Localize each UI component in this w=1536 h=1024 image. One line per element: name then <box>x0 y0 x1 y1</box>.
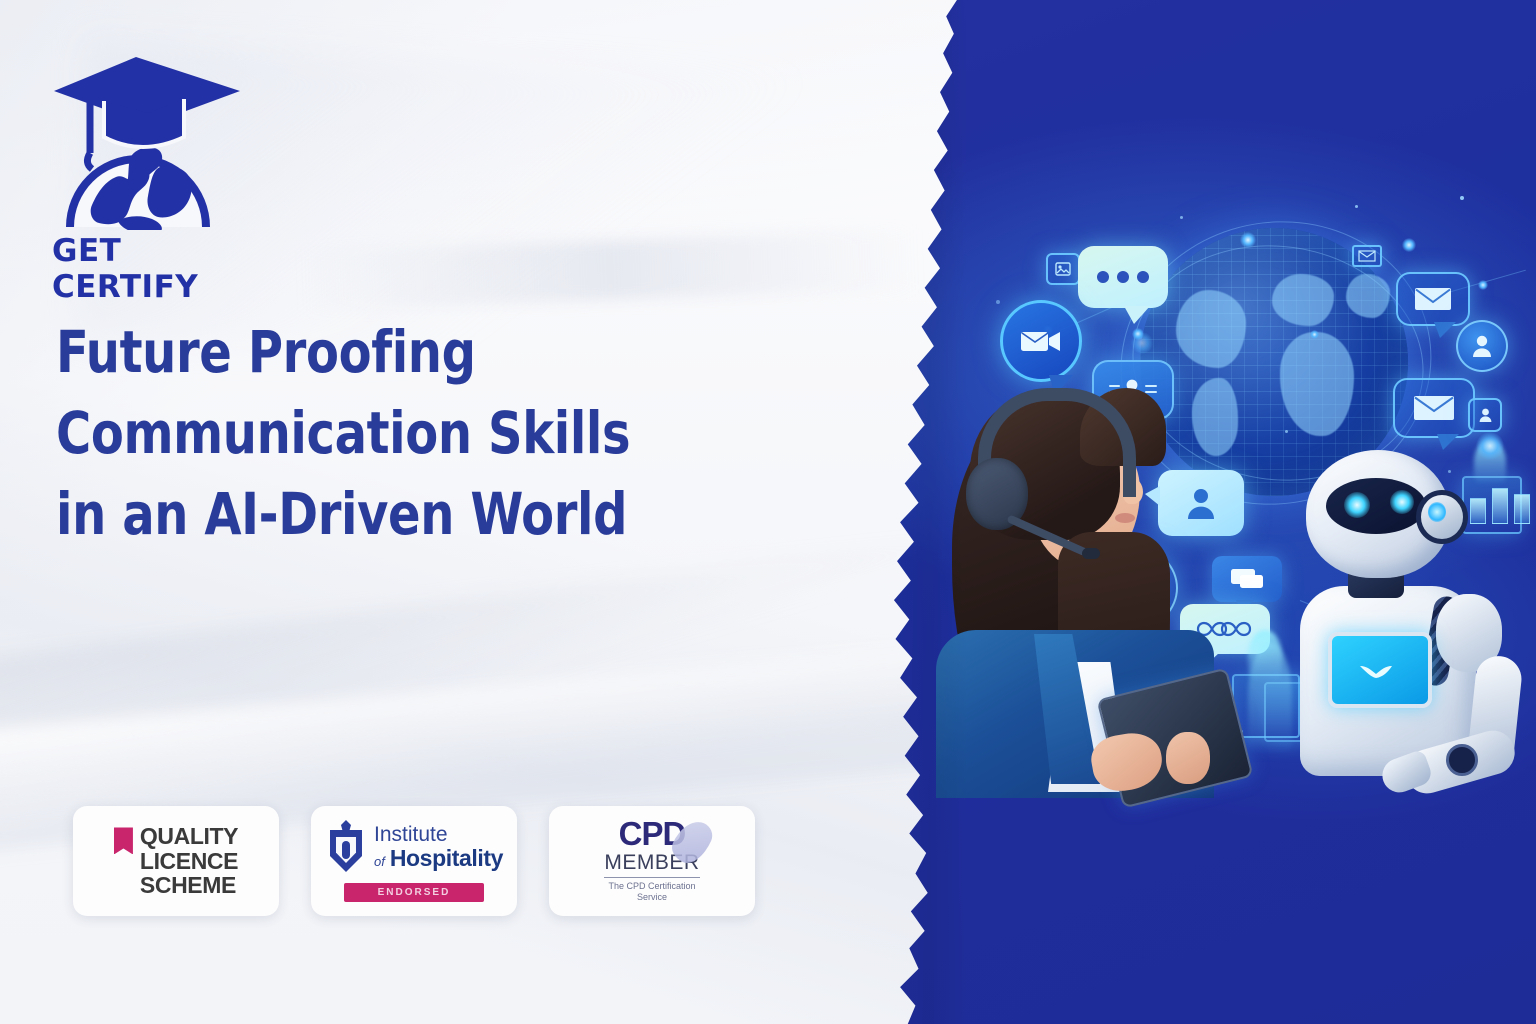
badge-quality-licence-scheme[interactable]: QUALITY LICENCE SCHEME <box>73 806 279 916</box>
qls-line-1: QUALITY <box>140 824 238 848</box>
cpd-sub-1: The CPD Certification <box>608 881 695 893</box>
glow-dot <box>1478 280 1488 290</box>
star-dot <box>1355 205 1358 208</box>
glow-dot <box>1131 332 1153 354</box>
ribbon-bookmark-icon <box>114 827 133 854</box>
ioh-line-1: Institute <box>374 824 503 845</box>
page-title: Future Proofing Communication Skills in … <box>56 312 700 556</box>
user-avatar-icon <box>1468 398 1502 432</box>
ioh-line-2: Hospitality <box>390 845 503 872</box>
envelope-icon <box>1352 245 1382 267</box>
qls-line-2: LICENCE <box>140 849 238 873</box>
video-call-icon <box>1000 300 1082 382</box>
glow-dot <box>1402 238 1416 252</box>
robot-eye-icon <box>1390 490 1414 514</box>
badge-institute-of-hospitality[interactable]: Institute of Hospitality ENDORSED <box>311 806 517 916</box>
badge-cpd-member[interactable]: CPD MEMBER The CPD Certification Service <box>549 806 755 916</box>
glow-dot <box>1240 232 1256 248</box>
headline-line-3: in an AI-Driven World <box>56 474 700 555</box>
star-dot <box>1460 196 1464 200</box>
envelope-icon <box>1393 378 1475 438</box>
poster-canvas: GET CERTIFY Future Proofing Communicatio… <box>0 0 1536 1024</box>
chat-dots-icon <box>1078 246 1168 308</box>
ioh-endorsed-ribbon: ENDORSED <box>344 883 485 902</box>
star-dot <box>1180 216 1183 219</box>
envelope-icon <box>1396 272 1470 326</box>
logo-wordmark: GET CERTIFY <box>52 233 258 305</box>
robot-ear-glow <box>1428 502 1446 522</box>
crest-shield-icon <box>325 820 367 876</box>
ai-robot <box>1286 444 1536 784</box>
graduation-cap-globe-icon <box>48 55 258 230</box>
qls-line-3: SCHEME <box>140 873 238 897</box>
hologram-beam <box>1248 642 1292 752</box>
glow-dot <box>1310 330 1319 339</box>
woman-with-headset <box>930 382 1230 792</box>
headset-mic-icon <box>1082 548 1100 559</box>
star-dot <box>996 300 1000 304</box>
accreditation-badges: QUALITY LICENCE SCHEME Institute <box>73 806 755 916</box>
lips <box>1115 513 1135 523</box>
paper-crease <box>299 229 921 311</box>
robot-chest-screen <box>1328 632 1432 708</box>
headline-line-1: Future Proofing <box>56 312 700 393</box>
paper-crease <box>0 540 965 811</box>
star-dot <box>1285 430 1288 433</box>
brand-logo[interactable]: GET CERTIFY <box>48 55 258 225</box>
image-icon <box>1046 253 1080 285</box>
ioh-of: of <box>374 854 385 869</box>
robot-eye-icon <box>1344 492 1370 518</box>
headline-line-2: Communication Skills <box>56 393 700 474</box>
robot-wrist <box>1446 744 1478 776</box>
hand <box>1166 732 1210 784</box>
cpd-sub-2: Service <box>608 892 695 904</box>
user-avatar-icon <box>1456 320 1508 372</box>
